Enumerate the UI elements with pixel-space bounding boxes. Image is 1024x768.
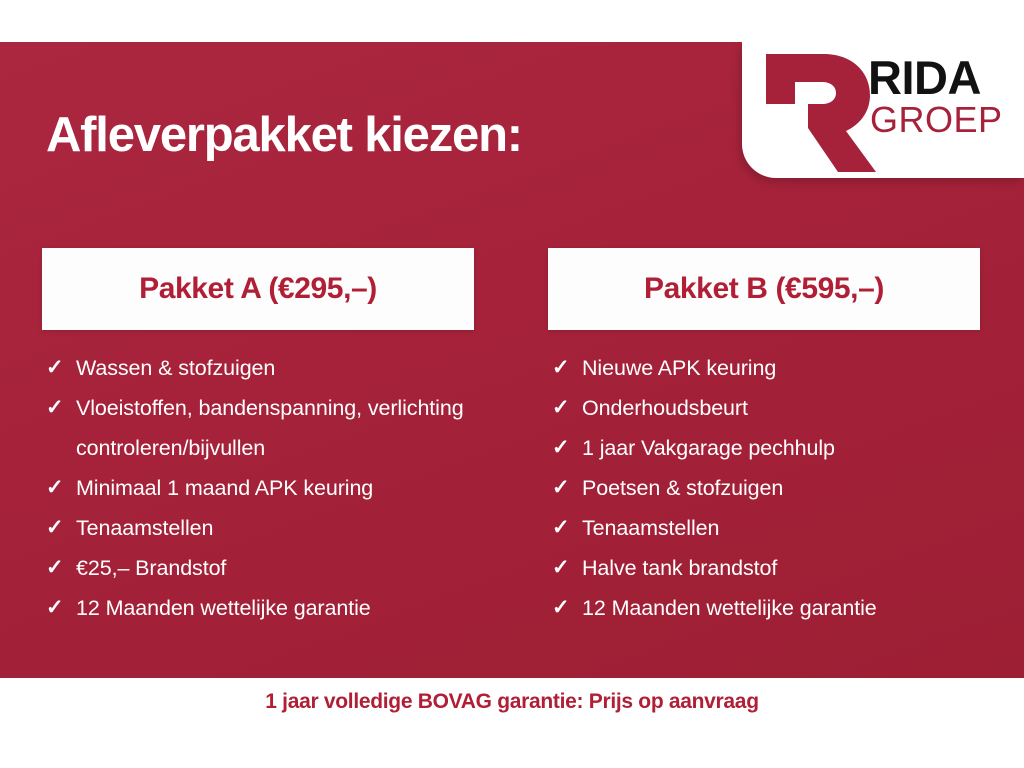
package-a-title: Pakket A (€295,–) <box>139 272 377 306</box>
check-icon: ✓ <box>46 508 76 548</box>
brand-logo-text: RIDA GROEP <box>868 52 1018 140</box>
package-card-a[interactable]: Pakket A (€295,–) ✓ Wassen & stofzuigen … <box>42 248 474 628</box>
feature-label: Poetsen & stofzuigen <box>582 468 980 508</box>
list-item: ✓ Nieuwe APK keuring <box>548 348 980 388</box>
package-b-title: Pakket B (€595,–) <box>644 272 884 306</box>
check-icon: ✓ <box>46 348 76 388</box>
package-a-feature-list: ✓ Wassen & stofzuigen ✓ Vloeistoffen, ba… <box>42 330 474 628</box>
package-b-header: Pakket B (€595,–) <box>548 248 980 330</box>
list-item: ✓ 12 Maanden wettelijke garantie <box>42 588 474 628</box>
list-item: ✓ €25,– Brandstof <box>42 548 474 588</box>
list-item: ✓ Wassen & stofzuigen <box>42 348 474 388</box>
check-icon: ✓ <box>552 588 582 628</box>
package-a-header: Pakket A (€295,–) <box>42 248 474 330</box>
feature-label: Halve tank brandstof <box>582 548 980 588</box>
feature-label: 1 jaar Vakgarage pechhulp <box>582 428 980 468</box>
package-card-b[interactable]: Pakket B (€595,–) ✓ Nieuwe APK keuring ✓… <box>548 248 980 628</box>
rida-r-monogram-icon <box>758 48 878 172</box>
feature-label: 12 Maanden wettelijke garantie <box>582 588 980 628</box>
feature-label: Onderhoudsbeurt <box>582 388 980 428</box>
list-item: ✓ Minimaal 1 maand APK keuring <box>42 468 474 508</box>
brand-logo-panel[interactable]: RIDA GROEP <box>742 42 1024 178</box>
check-icon: ✓ <box>46 548 76 588</box>
feature-label: Wassen & stofzuigen <box>76 348 474 388</box>
check-icon: ✓ <box>46 388 76 428</box>
feature-label: 12 Maanden wettelijke garantie <box>76 588 474 628</box>
slide-root: Afleverpakket kiezen: Pakket A (€295,–) … <box>0 0 1024 768</box>
footer-bar: 1 jaar volledige BOVAG garantie: Prijs o… <box>0 678 1024 768</box>
check-icon: ✓ <box>552 548 582 588</box>
list-item: ✓ 12 Maanden wettelijke garantie <box>548 588 980 628</box>
feature-label: Vloeistoffen, bandenspanning, verlichtin… <box>76 388 474 468</box>
list-item: ✓ Tenaamstellen <box>548 508 980 548</box>
list-item: ✓ 1 jaar Vakgarage pechhulp <box>548 428 980 468</box>
feature-label: Nieuwe APK keuring <box>582 348 980 388</box>
feature-label: Minimaal 1 maand APK keuring <box>76 468 474 508</box>
list-item: ✓ Vloeistoffen, bandenspanning, verlicht… <box>42 388 474 468</box>
list-item: ✓ Poetsen & stofzuigen <box>548 468 980 508</box>
brand-name-primary: RIDA <box>868 52 1018 104</box>
list-item: ✓ Halve tank brandstof <box>548 548 980 588</box>
footer-guarantee-note: 1 jaar volledige BOVAG garantie: Prijs o… <box>265 690 758 714</box>
brand-name-secondary: GROEP <box>870 100 1018 140</box>
check-icon: ✓ <box>552 468 582 508</box>
package-b-feature-list: ✓ Nieuwe APK keuring ✓ Onderhoudsbeurt ✓… <box>548 330 980 628</box>
check-icon: ✓ <box>46 588 76 628</box>
list-item: ✓ Tenaamstellen <box>42 508 474 548</box>
check-icon: ✓ <box>552 428 582 468</box>
check-icon: ✓ <box>552 348 582 388</box>
check-icon: ✓ <box>46 468 76 508</box>
list-item: ✓ Onderhoudsbeurt <box>548 388 980 428</box>
feature-label: Tenaamstellen <box>76 508 474 548</box>
check-icon: ✓ <box>552 508 582 548</box>
feature-label: Tenaamstellen <box>582 508 980 548</box>
check-icon: ✓ <box>552 388 582 428</box>
feature-label: €25,– Brandstof <box>76 548 474 588</box>
red-background-panel: Afleverpakket kiezen: Pakket A (€295,–) … <box>0 42 1024 678</box>
